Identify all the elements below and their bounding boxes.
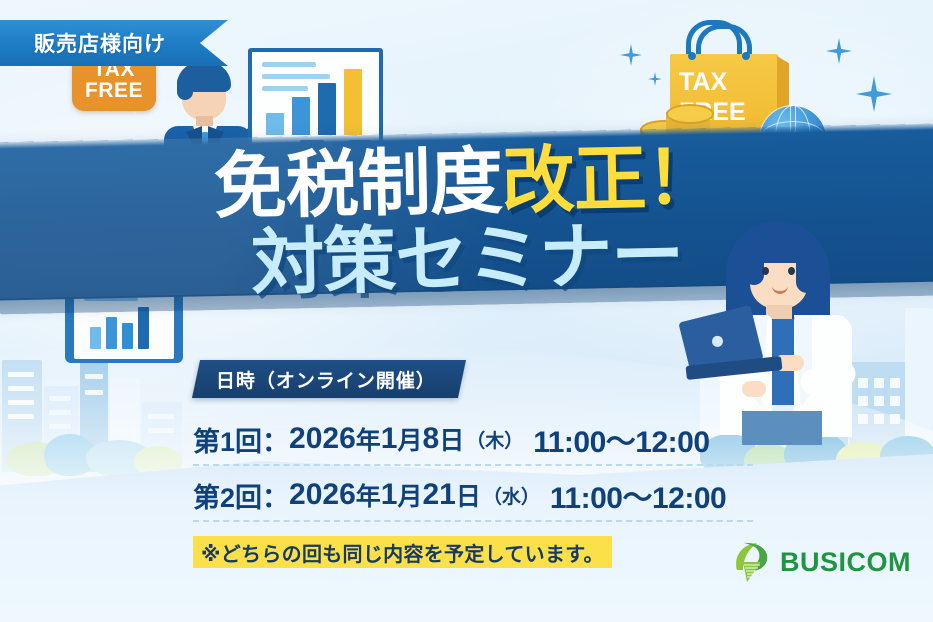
- session-2-label: 第2回：: [193, 476, 289, 515]
- date-time-badge-label: 日時（オンライン開催）: [216, 366, 436, 393]
- session-1-month: 1: [381, 422, 398, 456]
- session-1-month-unit: 月: [397, 421, 422, 457]
- session-2-month: 1: [381, 478, 398, 512]
- session-2-year: 2026: [289, 478, 356, 512]
- session-1-day: 8: [423, 422, 440, 456]
- session-2-year-unit: 年: [356, 477, 381, 513]
- session-note: ※どちらの回も同じ内容を予定しています。: [193, 536, 612, 568]
- session-divider: [193, 464, 753, 466]
- session-1-dayofweek: （木）: [466, 426, 523, 453]
- session-row-1: 第1回： 2026 年 1 月 8 日 （木） 11:00〜12:00: [193, 416, 753, 462]
- session-2-day-unit: 日: [456, 477, 481, 513]
- busicom-logo: BUSICOM: [731, 540, 911, 584]
- tax-free-badge-line2: FREE: [85, 80, 143, 101]
- busicom-logo-text: BUSICOM: [780, 547, 911, 578]
- session-1-year: 2026: [289, 422, 356, 456]
- session-divider: [193, 520, 753, 522]
- woman-with-laptop-illustration: [690, 215, 900, 445]
- session-1-time: 11:00〜12:00: [533, 417, 709, 461]
- busicom-logo-mark: [731, 540, 771, 584]
- session-1-day-unit: 日: [439, 421, 464, 457]
- session-2-time: 11:00〜12:00: [550, 473, 726, 517]
- session-1-year-unit: 年: [356, 421, 381, 457]
- session-2-dayofweek: （水）: [483, 482, 540, 509]
- session-1-label: 第1回：: [193, 420, 289, 459]
- coin-icon: [666, 104, 714, 124]
- session-note-text: ※どちらの回も同じ内容を予定しています。: [201, 538, 604, 567]
- audience-ribbon: 販売店様向け: [0, 20, 228, 66]
- seminar-banner: TAX FREE TAX FREE 販売店様向け: [0, 0, 933, 622]
- tax-free-bag-line1: TAX: [679, 70, 727, 96]
- session-2-month-unit: 月: [397, 477, 422, 513]
- presentation-board-illustration: [248, 48, 383, 148]
- session-row-2: 第2回： 2026 年 1 月 21 日 （水） 11:00〜12:00: [193, 472, 753, 518]
- date-time-badge: 日時（オンライン開催）: [192, 360, 466, 398]
- session-2-day: 21: [423, 478, 456, 512]
- audience-ribbon-label: 販売店様向け: [0, 28, 166, 58]
